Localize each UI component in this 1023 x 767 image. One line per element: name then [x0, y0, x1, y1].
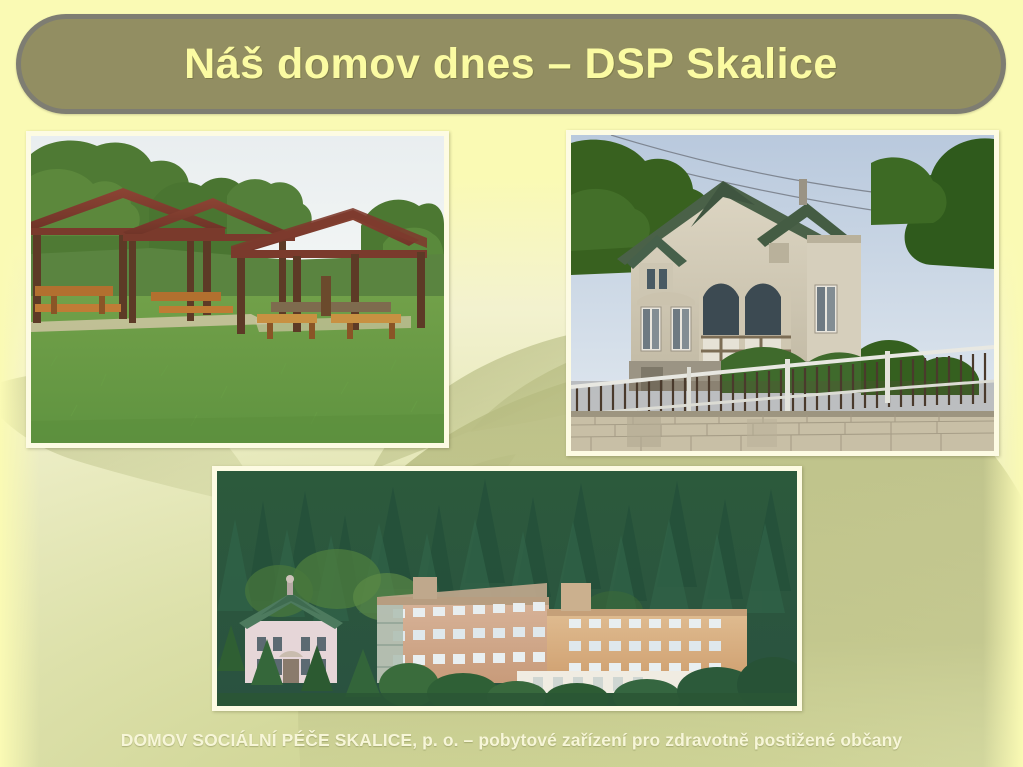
slide: Náš domov dnes – DSP Skalice	[0, 0, 1023, 767]
page-title: Náš domov dnes – DSP Skalice	[184, 40, 838, 89]
title-box: Náš domov dnes – DSP Skalice	[16, 14, 1006, 114]
photo-villa[interactable]	[566, 130, 999, 456]
photo-pergola[interactable]	[26, 131, 449, 448]
photo-villa-frame	[571, 135, 994, 451]
photo-pergola-frame	[31, 136, 444, 443]
photo-complex[interactable]	[212, 466, 802, 711]
photo-complex-frame	[217, 471, 797, 706]
slide-caption: DOMOV SOCIÁLNÍ PÉČE SKALICE, p. o. – pob…	[0, 730, 1023, 751]
